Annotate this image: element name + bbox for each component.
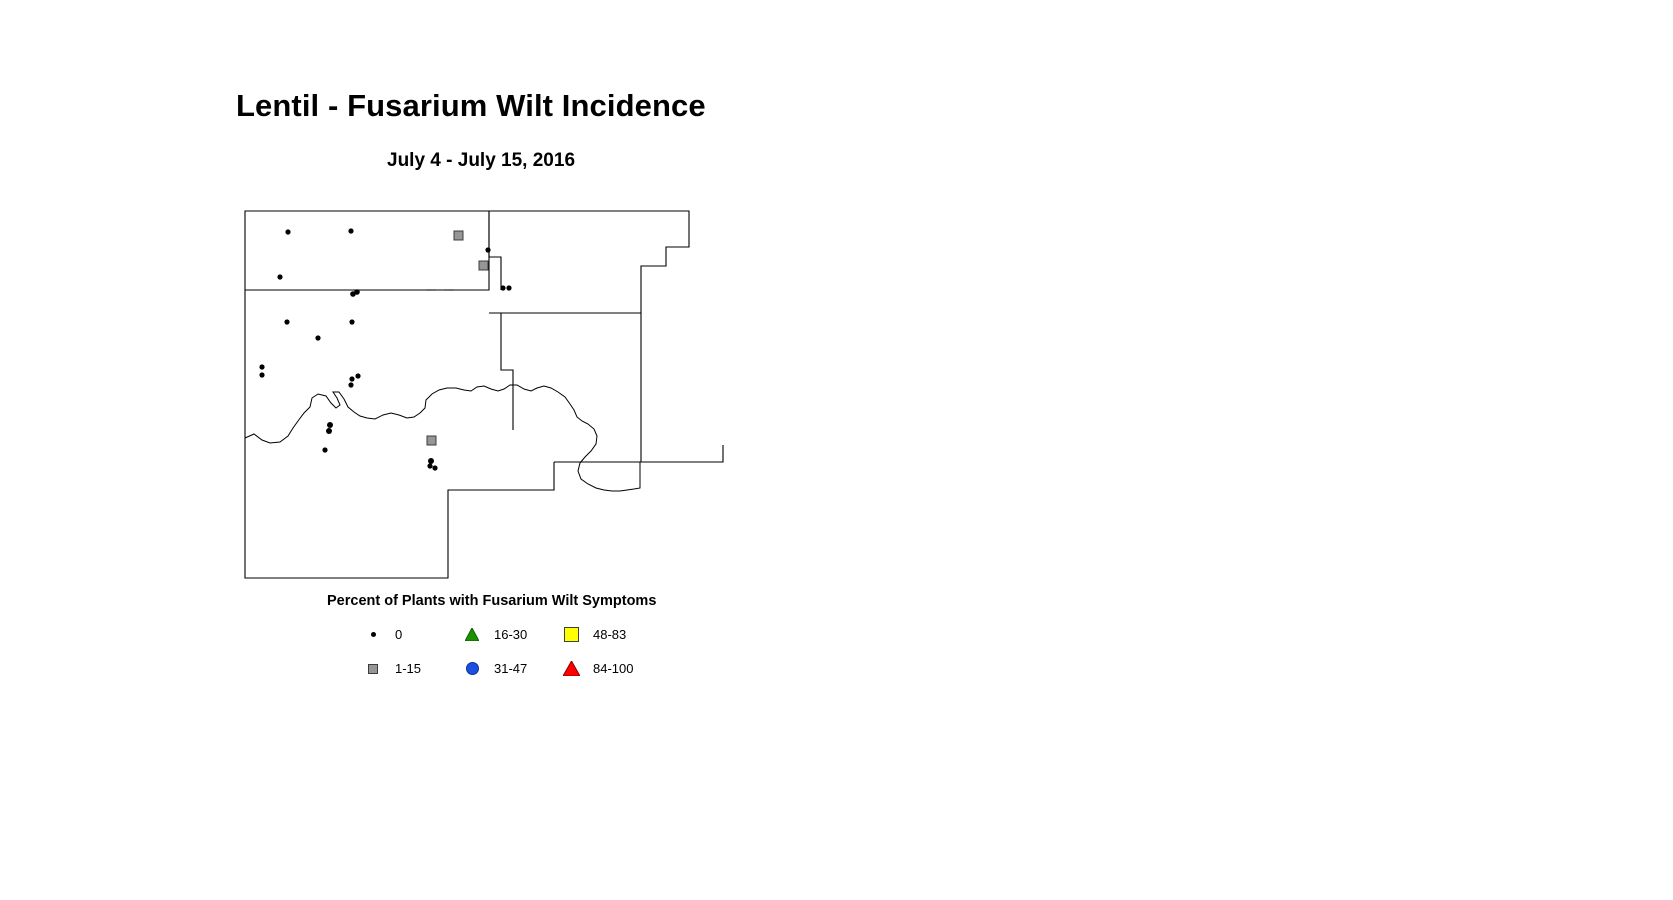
county-boundary-southwest bbox=[245, 290, 554, 578]
map-point bbox=[327, 422, 333, 428]
legend-item-0: 0 bbox=[360, 618, 459, 651]
map-point bbox=[348, 228, 353, 233]
point-layer-zero bbox=[259, 228, 511, 470]
map-point bbox=[500, 285, 505, 290]
map-point bbox=[485, 247, 490, 252]
county-boundary-northeast bbox=[489, 211, 689, 313]
legend-item-48-83: 48-83 bbox=[558, 618, 657, 651]
map-point bbox=[259, 364, 264, 369]
map-canvas bbox=[236, 200, 736, 590]
map-graphic bbox=[236, 200, 736, 590]
county-line-east-vertical bbox=[501, 313, 513, 430]
legend-item-16-30: 16-30 bbox=[459, 618, 558, 651]
map-point bbox=[315, 335, 320, 340]
map-point bbox=[427, 463, 432, 468]
map-point bbox=[506, 285, 511, 290]
map-point bbox=[326, 428, 332, 434]
legend-item-label: 84-100 bbox=[584, 661, 633, 676]
map-figure: Lentil - Fusarium Wilt Incidence July 4 … bbox=[0, 0, 1673, 900]
map-point-square bbox=[427, 436, 436, 445]
dot-icon bbox=[360, 632, 386, 637]
map-point bbox=[350, 291, 356, 297]
square-yellow-icon bbox=[558, 627, 584, 642]
legend-item-label: 1-15 bbox=[386, 661, 421, 676]
page-subtitle: July 4 - July 15, 2016 bbox=[387, 150, 575, 172]
circle-blue-icon bbox=[459, 662, 485, 675]
river-path bbox=[245, 385, 640, 491]
map-point bbox=[349, 319, 354, 324]
river-boundary bbox=[245, 385, 640, 491]
map-point-square bbox=[454, 231, 463, 240]
map-point-square bbox=[479, 261, 488, 270]
legend-item-31-47: 31-47 bbox=[459, 652, 558, 685]
map-point bbox=[259, 372, 264, 377]
county-line-mid-jog bbox=[489, 257, 501, 290]
legend: 0 16-30 48-83 1-15 31-47 bbox=[360, 618, 680, 685]
legend-item-label: 31-47 bbox=[485, 661, 527, 676]
legend-title: Percent of Plants with Fusarium Wilt Sym… bbox=[327, 593, 656, 609]
legend-row: 0 16-30 48-83 bbox=[360, 618, 680, 651]
legend-item-label: 16-30 bbox=[485, 627, 527, 642]
county-boundary-southeast bbox=[641, 313, 723, 462]
legend-item-84-100: 84-100 bbox=[558, 652, 657, 685]
map-point bbox=[284, 319, 289, 324]
triangle-red-icon bbox=[558, 661, 584, 676]
map-point bbox=[322, 447, 327, 452]
legend-item-1-15: 1-15 bbox=[360, 652, 459, 685]
legend-item-label: 0 bbox=[386, 627, 402, 642]
triangle-green-icon bbox=[459, 628, 485, 641]
legend-item-label: 48-83 bbox=[584, 627, 626, 642]
map-point bbox=[432, 465, 437, 470]
page-title: Lentil - Fusarium Wilt Incidence bbox=[236, 88, 706, 124]
map-point bbox=[349, 376, 354, 381]
map-point bbox=[277, 274, 282, 279]
point-layer-low bbox=[427, 231, 488, 445]
square-gray-icon bbox=[360, 664, 386, 674]
legend-row: 1-15 31-47 84-100 bbox=[360, 652, 680, 685]
map-point bbox=[428, 458, 434, 464]
map-point bbox=[285, 229, 290, 234]
map-point bbox=[355, 373, 360, 378]
map-point bbox=[348, 382, 353, 387]
